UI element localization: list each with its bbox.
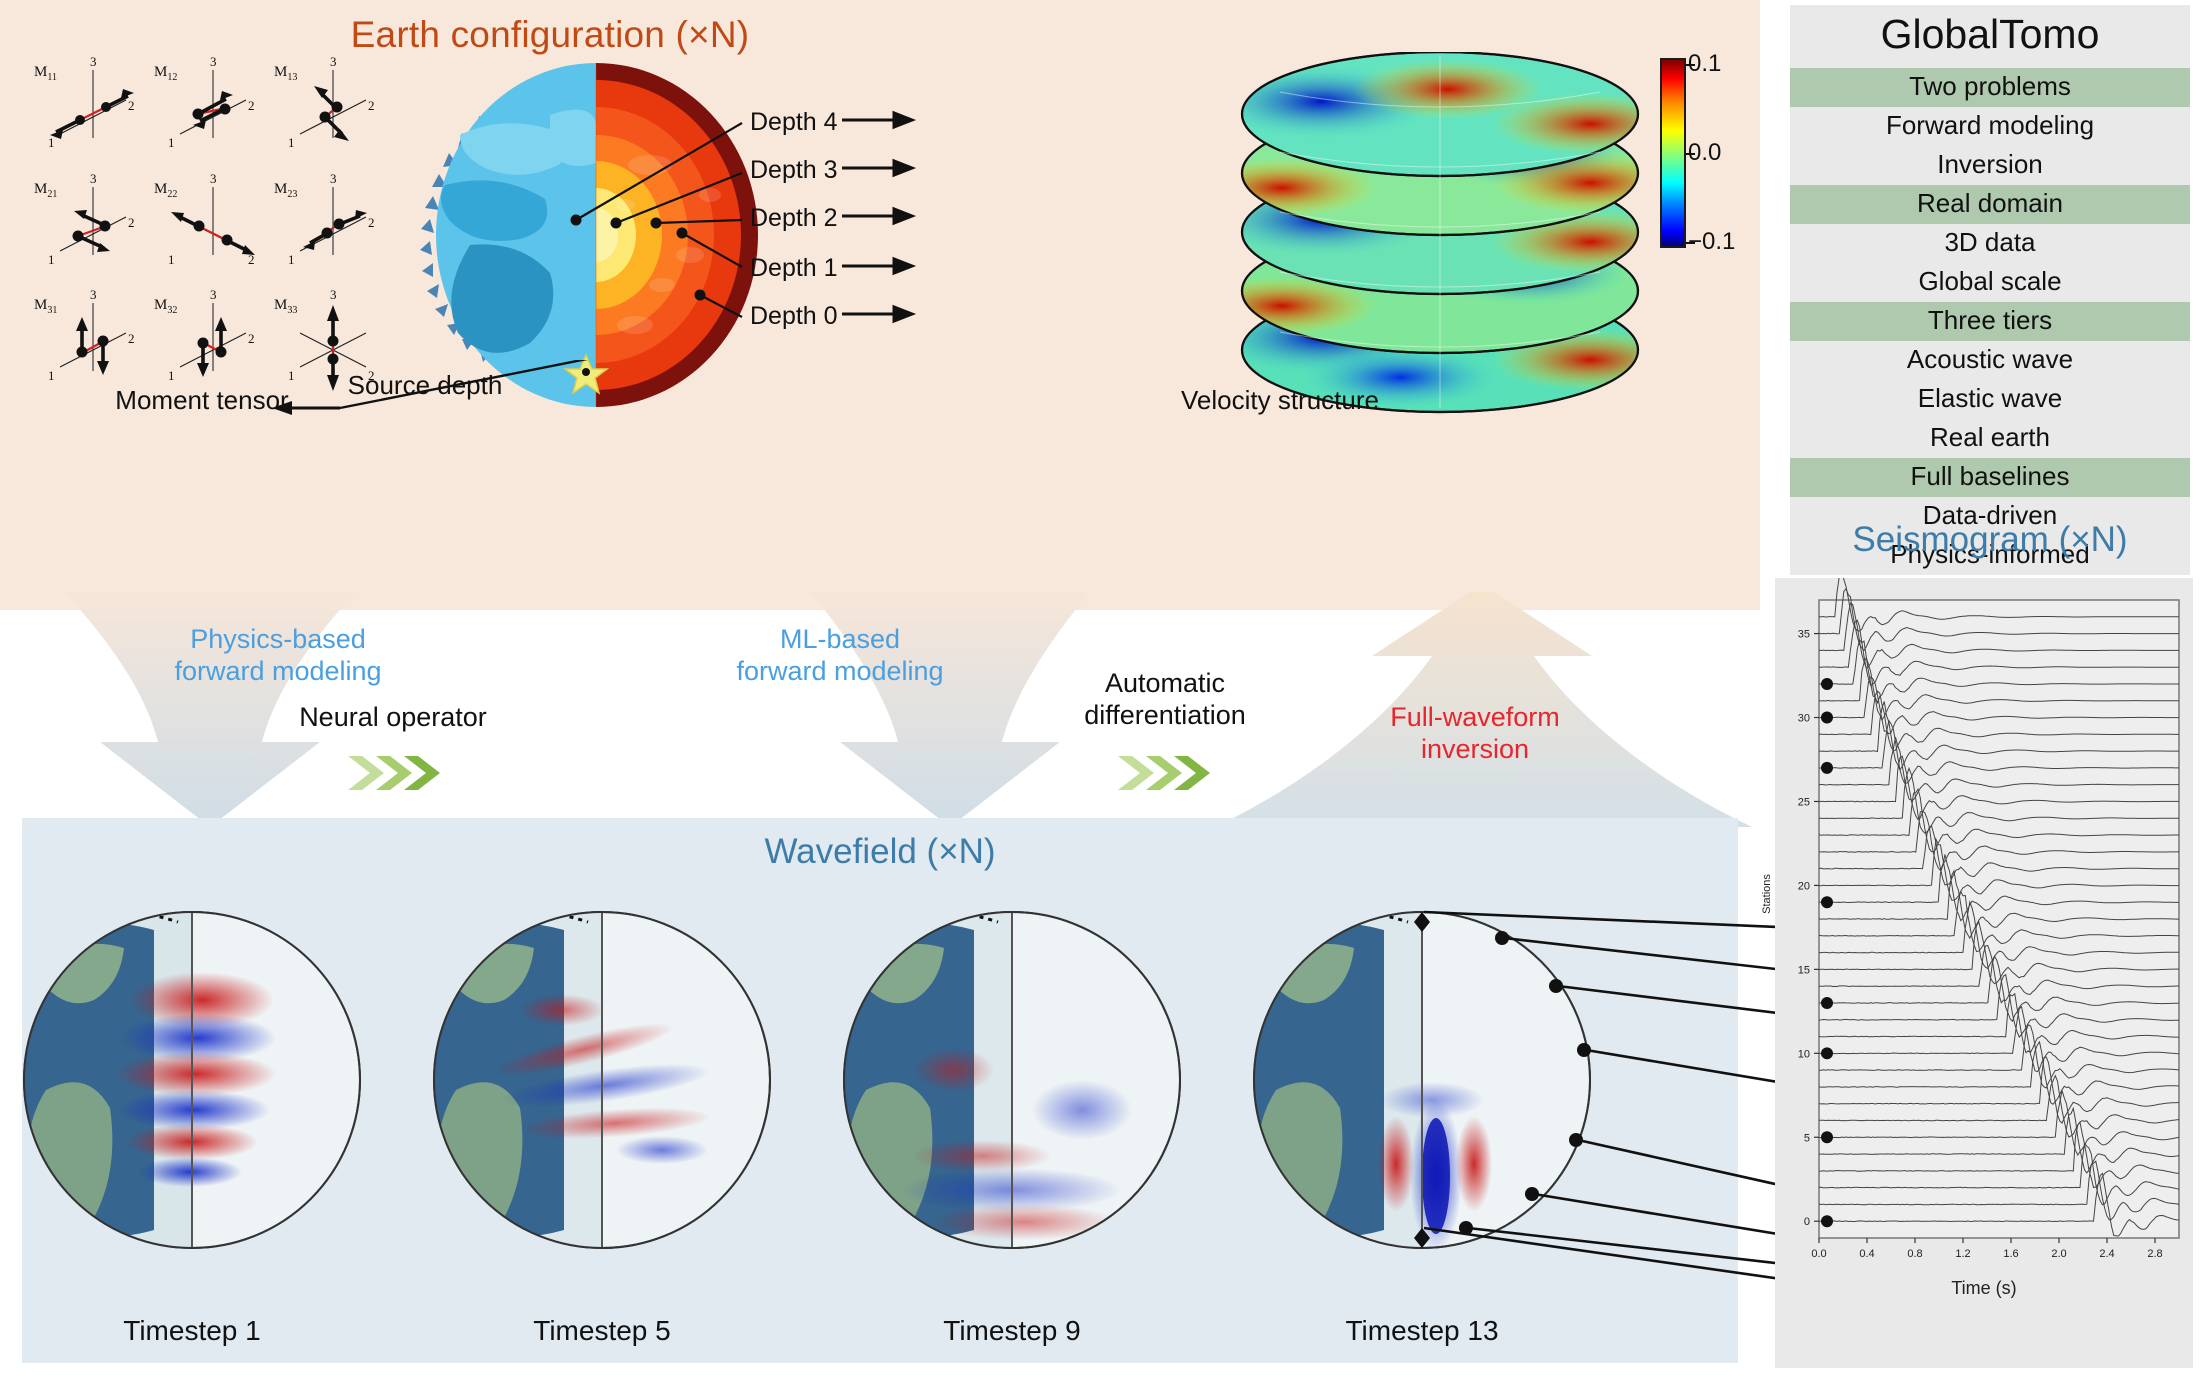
moment-tensor-cell-m11: M11 3 1 2	[30, 52, 150, 169]
neural-operator-label: Neural operator	[228, 702, 558, 734]
chevrons-autodiff-icon	[1118, 750, 1228, 796]
svg-text:2: 2	[128, 331, 135, 346]
globaltomo-title: GlobalTomo	[1790, 5, 2190, 68]
svg-text:0.8: 0.8	[1907, 1248, 1922, 1260]
velocity-colorbar: 0.1 0.0 −0.1	[1660, 58, 1686, 248]
svg-text:10: 10	[1798, 1048, 1810, 1060]
ml-forward-label: ML-based forward modeling	[710, 624, 970, 688]
svg-text:1: 1	[168, 252, 175, 267]
svg-text:1.2: 1.2	[1955, 1248, 1970, 1260]
globaltomo-row-6: Three tiers	[1790, 302, 2190, 341]
svg-text:3: 3	[210, 54, 217, 69]
moment-tensor-cell-m22: M22 3 1 2	[150, 169, 270, 286]
svg-text:2: 2	[128, 98, 135, 113]
svg-text:20: 20	[1798, 880, 1810, 892]
earth-configuration-title: Earth configuration (×N)	[0, 14, 1100, 56]
svg-text:30: 30	[1798, 713, 1810, 725]
svg-text:0: 0	[1804, 1216, 1810, 1228]
moment-tensor-cell-m13: M13 3 1 2	[270, 52, 390, 169]
svg-text:3: 3	[90, 287, 97, 302]
svg-text:3: 3	[330, 171, 337, 186]
depth-label-0: Depth 0	[750, 302, 838, 331]
colorbar-tick-max: 0.1	[1688, 50, 1721, 78]
wavefield-panel: Wavefield (×N)	[22, 818, 1738, 1363]
svg-text:5: 5	[1804, 1132, 1810, 1144]
depth-label-2: Depth 2	[750, 204, 838, 233]
svg-text:2: 2	[128, 215, 135, 230]
globaltomo-row-10: Full baselines	[1790, 458, 2190, 497]
globaltomo-row-7: Acoustic wave	[1790, 341, 2190, 380]
colorbar-tick-min: −0.1	[1688, 228, 1735, 256]
svg-text:1: 1	[288, 135, 295, 150]
workflow-transition-band: Physics-based forward modeling ML-based …	[0, 610, 1760, 825]
fwi-label: Full-waveform inversion	[1330, 702, 1620, 766]
seismogram-record-section: 051015202530350.00.40.81.21.62.02.42.8	[1775, 578, 2193, 1368]
seismogram-panel: Stations 051015202530350.00.40.81.21.62.…	[1775, 578, 2193, 1368]
svg-text:3: 3	[90, 54, 97, 69]
moment-tensor-caption: Moment tensor	[72, 385, 332, 416]
moment-tensor-cell-m23: M23 3 1 2	[270, 169, 390, 286]
svg-text:2: 2	[248, 98, 255, 113]
svg-text:35: 35	[1798, 629, 1810, 641]
svg-text:1: 1	[48, 252, 55, 267]
svg-text:2: 2	[248, 331, 255, 346]
svg-text:3: 3	[330, 287, 337, 302]
svg-text:1: 1	[48, 368, 55, 383]
moment-tensor-grid: M11 3 1 2 M12	[30, 52, 390, 402]
svg-text:3: 3	[330, 54, 337, 69]
timestep-label-9: Timestep 9	[882, 1315, 1142, 1347]
svg-text:2: 2	[368, 98, 375, 113]
globaltomo-row-4: 3D data	[1790, 224, 2190, 263]
velocity-structure-stack	[1240, 52, 1640, 422]
svg-text:0.0: 0.0	[1811, 1248, 1826, 1260]
moment-tensor-cell-m12: M12 3 1 2	[150, 52, 270, 169]
timestep-label-5: Timestep 5	[472, 1315, 732, 1347]
source-depth-caption: Source depth	[310, 370, 540, 401]
depth-label-3: Depth 3	[750, 156, 838, 185]
moment-tensor-cell-m21: M21 3 1 2	[30, 169, 150, 286]
svg-text:1: 1	[288, 252, 295, 267]
wavefield-globe-timestep-9	[844, 911, 1180, 1248]
globaltomo-row-9: Real earth	[1790, 419, 2190, 458]
wavefield-globe-timestep-5	[434, 911, 770, 1248]
chevrons-neural-operator-icon	[348, 750, 458, 796]
svg-text:2.0: 2.0	[2051, 1248, 2066, 1260]
globaltomo-row-3: Real domain	[1790, 185, 2190, 224]
wavefield-title: Wavefield (×N)	[22, 832, 1738, 872]
globaltomo-row-0: Two problems	[1790, 68, 2190, 107]
svg-text:1: 1	[168, 135, 175, 150]
colorbar-gradient	[1660, 58, 1686, 248]
globaltomo-row-1: Forward modeling	[1790, 107, 2190, 146]
depth-label-1: Depth 1	[750, 254, 838, 283]
globaltomo-feature-table: GlobalTomo Two problems Forward modeling…	[1790, 5, 2190, 575]
svg-text:2: 2	[248, 252, 255, 267]
seismogram-title: Seismogram (×N)	[1790, 520, 2190, 560]
svg-text:15: 15	[1798, 964, 1810, 976]
svg-text:25: 25	[1798, 796, 1810, 808]
physics-forward-label: Physics-based forward modeling	[148, 624, 408, 688]
autodiff-label: Automatic differentiation	[1030, 668, 1300, 732]
svg-text:3: 3	[90, 171, 97, 186]
seismogram-y-axis-label: Stations	[1761, 874, 1773, 914]
timestep-label-13: Timestep 13	[1292, 1315, 1552, 1347]
svg-text:2.8: 2.8	[2147, 1248, 2162, 1260]
timestep-label-1: Timestep 1	[62, 1315, 322, 1347]
wavefield-globe-timestep-1	[24, 911, 360, 1248]
svg-text:2.4: 2.4	[2099, 1248, 2114, 1260]
svg-text:1.6: 1.6	[2003, 1248, 2018, 1260]
globaltomo-row-8: Elastic wave	[1790, 380, 2190, 419]
svg-text:0.4: 0.4	[1859, 1248, 1874, 1260]
svg-text:1: 1	[168, 368, 175, 383]
depth-arrows	[840, 100, 960, 340]
svg-text:3: 3	[210, 171, 217, 186]
earth-configuration-panel: Earth configuration (×N) M11 3 1 2	[0, 0, 1760, 620]
seismogram-x-axis-label: Time (s)	[1775, 1278, 2193, 1299]
station-connector-lines	[1402, 890, 1822, 1310]
colorbar-tick-mid: 0.0	[1688, 139, 1721, 167]
globaltomo-row-5: Global scale	[1790, 263, 2190, 302]
svg-text:2: 2	[368, 215, 375, 230]
svg-text:1: 1	[48, 135, 55, 150]
svg-text:3: 3	[210, 287, 217, 302]
depth-label-4: Depth 4	[750, 108, 838, 137]
velocity-structure-caption: Velocity structure	[1130, 385, 1430, 416]
globaltomo-row-2: Inversion	[1790, 146, 2190, 185]
